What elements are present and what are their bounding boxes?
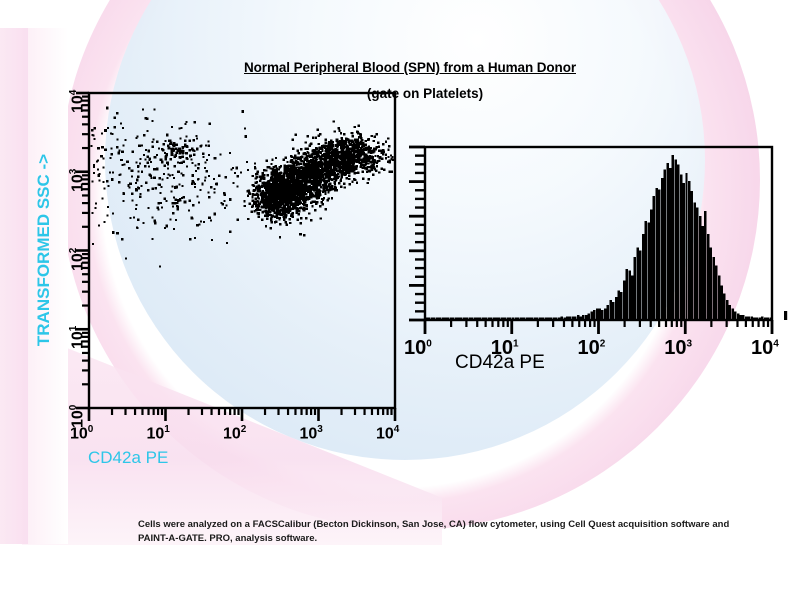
dotplot-y-tick-3: 103 [69, 168, 86, 191]
flow-cytometry-figure: Normal Peripheral Blood (SPN) from a Hum… [0, 0, 800, 600]
dotplot-y-tick-4: 104 [69, 90, 86, 113]
dotplot-x-tick-3: 103 [300, 425, 323, 442]
dotplot-x-tick-1: 101 [147, 425, 170, 442]
histogram-plot [409, 147, 787, 334]
dot-plot [76, 93, 395, 421]
dotplot-x-tick-4: 104 [376, 425, 399, 442]
dotplot-events [91, 107, 394, 268]
histogram-bars [425, 155, 772, 320]
dotplot-y-tick-1: 101 [69, 326, 86, 349]
histogram-x-tick-2: 102 [578, 338, 606, 358]
histogram-x-tick-3: 103 [664, 338, 692, 358]
histogram-x-tick-4: 104 [751, 338, 779, 358]
dotplot-y-tick-2: 102 [69, 247, 86, 270]
dotplot-y-tick-0: 100 [69, 405, 86, 428]
histogram-offscale-marker [784, 311, 787, 320]
plots-canvas [0, 0, 800, 600]
dotplot-x-tick-2: 102 [223, 425, 246, 442]
figure-caption: Cells were analyzed on a FACSCalibur (Be… [138, 518, 758, 546]
histogram-x-tick-1: 101 [491, 338, 519, 358]
histogram-x-tick-0: 100 [404, 338, 432, 358]
